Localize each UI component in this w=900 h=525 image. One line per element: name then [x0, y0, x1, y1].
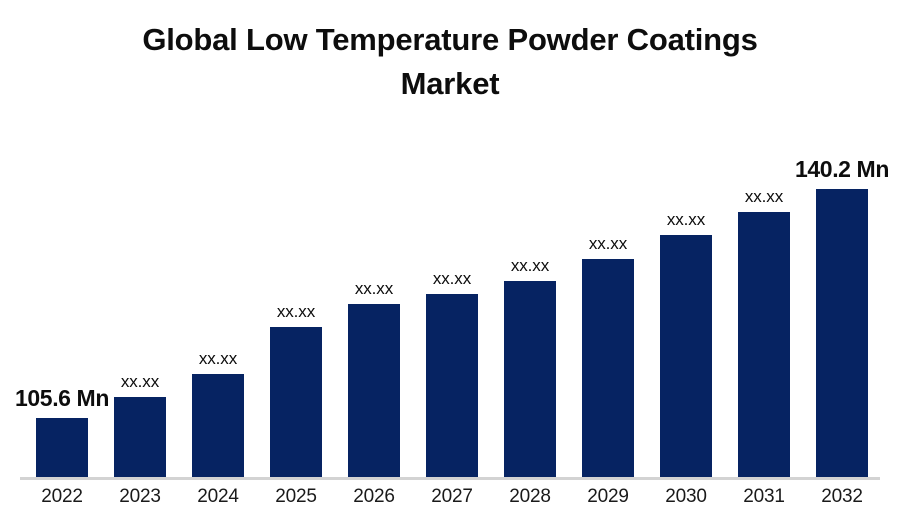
- x-tick-label-2023: 2023: [101, 486, 179, 508]
- bar-2030[interactable]: [660, 235, 712, 477]
- bar-2029[interactable]: [582, 259, 634, 477]
- plot-area: 105.6 Mn2022xx.xx2023xx.xx2024xx.xx2025x…: [0, 0, 900, 525]
- bar-chart: Global Low Temperature Powder Coatings M…: [0, 0, 900, 525]
- bar-value-label-2024: xx.xx: [163, 349, 273, 369]
- bar-value-label-2029: xx.xx: [553, 234, 663, 254]
- bar-2025[interactable]: [270, 327, 322, 477]
- bar-value-label-2028: xx.xx: [475, 256, 585, 276]
- bar-2024[interactable]: [192, 374, 244, 477]
- x-tick-label-2027: 2027: [413, 486, 491, 508]
- x-tick-label-2025: 2025: [257, 486, 335, 508]
- bar-2028[interactable]: [504, 281, 556, 477]
- x-tick-label-2028: 2028: [491, 486, 569, 508]
- bar-value-label-2031: xx.xx: [709, 187, 819, 207]
- bar-value-label-2025: xx.xx: [241, 302, 351, 322]
- bar-value-label-2023: xx.xx: [85, 372, 195, 392]
- x-tick-label-2032: 2032: [803, 486, 881, 508]
- bar-2027[interactable]: [426, 294, 478, 477]
- bar-value-label-2032: 140.2 Mn: [762, 156, 900, 183]
- x-tick-label-2029: 2029: [569, 486, 647, 508]
- x-tick-label-2024: 2024: [179, 486, 257, 508]
- x-axis-line: [20, 477, 880, 480]
- bar-2026[interactable]: [348, 304, 400, 477]
- x-tick-label-2030: 2030: [647, 486, 725, 508]
- bar-2031[interactable]: [738, 212, 790, 477]
- x-tick-label-2022: 2022: [23, 486, 101, 508]
- bar-2032[interactable]: [816, 189, 868, 477]
- x-tick-label-2026: 2026: [335, 486, 413, 508]
- x-tick-label-2031: 2031: [725, 486, 803, 508]
- bar-2022[interactable]: [36, 418, 88, 477]
- bar-value-label-2030: xx.xx: [631, 210, 741, 230]
- bar-2023[interactable]: [114, 397, 166, 477]
